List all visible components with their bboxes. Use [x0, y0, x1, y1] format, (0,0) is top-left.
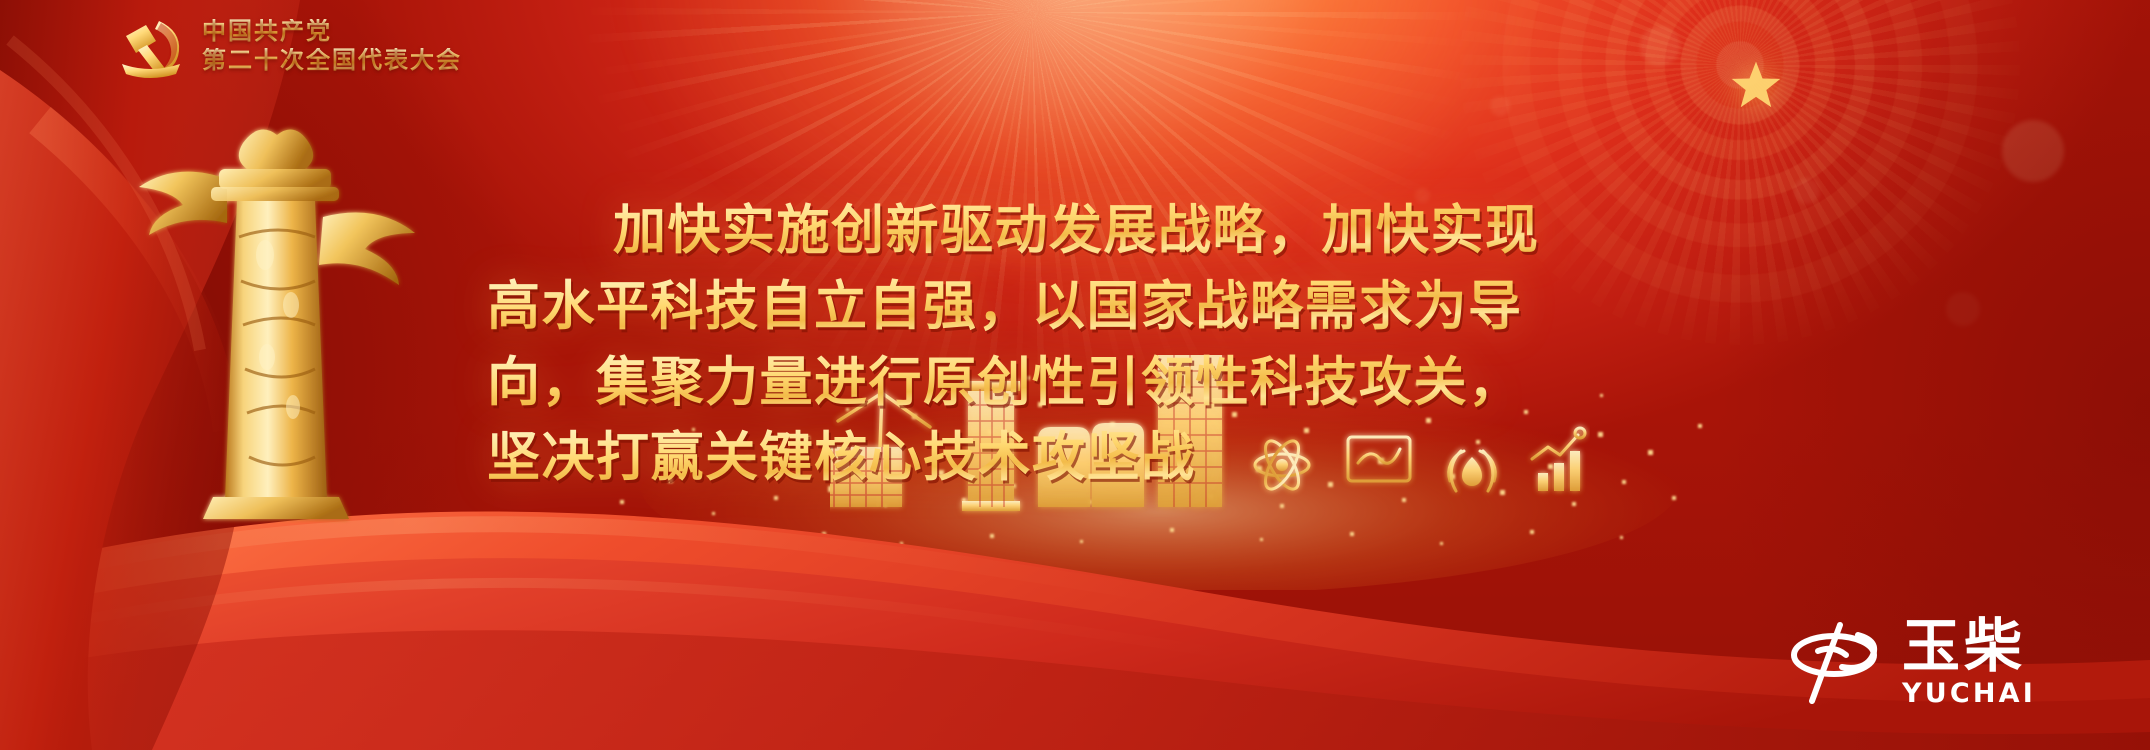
yuchai-name-cn: 玉柴	[1902, 617, 2036, 675]
yuchai-wordmark: 玉柴 YUCHAI	[1902, 617, 2036, 711]
congress-emblem-block: 中国共产党 第二十次全国代表大会	[112, 6, 472, 86]
cpc-technology-banner: 中国共产党 第二十次全国代表大会 加快实施创新驱动发展战略，加快实现 高水平科技…	[0, 0, 2150, 750]
slogan-line-1: 加快实施创新驱动发展战略，加快实现	[487, 193, 1727, 269]
congress-title: 中国共产党 第二十次全国代表大会	[202, 19, 462, 73]
yuchai-logo: 玉柴 YUCHAI	[1788, 608, 2088, 720]
yuchai-name-en: YUCHAI	[1902, 680, 2036, 707]
slogan-line-3: 向，集聚力量进行原创性引领性科技攻关，	[487, 345, 1727, 421]
slogan-block: 加快实施创新驱动发展战略，加快实现 高水平科技自立自强，以国家战略需求为导 向，…	[487, 193, 1727, 496]
huabiao-column-icon	[115, 105, 445, 525]
hammer-and-sickle-icon	[112, 14, 190, 78]
slogan-line-2: 高水平科技自立自强，以国家战略需求为导	[487, 269, 1727, 345]
yuchai-logo-mark-icon	[1788, 621, 1892, 707]
congress-title-line2: 第二十次全国代表大会	[202, 48, 462, 73]
congress-title-line1: 中国共产党	[202, 19, 462, 44]
slogan-line-4: 坚决打赢关键核心技术攻坚战	[487, 420, 1727, 496]
